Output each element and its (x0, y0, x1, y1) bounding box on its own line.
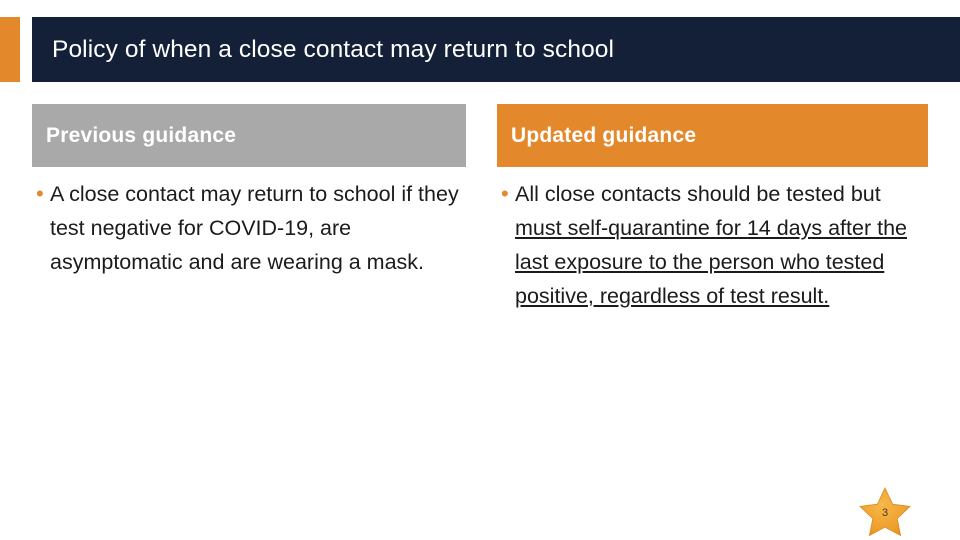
updated-guidance-header: Updated guidance (497, 104, 928, 167)
list-item: • All close contacts should be tested bu… (497, 177, 928, 313)
list-item: • A close contact may return to school i… (32, 177, 466, 279)
bullet-icon: • (501, 177, 515, 211)
updated-guidance-text: All close contacts should be tested but … (515, 177, 928, 313)
updated-guidance-body: • All close contacts should be tested bu… (497, 177, 928, 313)
bullet-icon: • (36, 177, 50, 211)
previous-guidance-body: • A close contact may return to school i… (32, 177, 466, 279)
previous-guidance-text: A close contact may return to school if … (50, 177, 466, 279)
page-number: 3 (857, 486, 913, 536)
slide: Policy of when a close contact may retur… (0, 0, 960, 540)
previous-guidance-header: Previous guidance (32, 104, 466, 167)
page-title: Policy of when a close contact may retur… (52, 17, 932, 82)
previous-guidance-header-label: Previous guidance (46, 124, 236, 148)
page-number-badge: 3 (857, 486, 913, 536)
updated-guidance-header-label: Updated guidance (511, 124, 696, 148)
title-accent-bar (0, 17, 20, 82)
